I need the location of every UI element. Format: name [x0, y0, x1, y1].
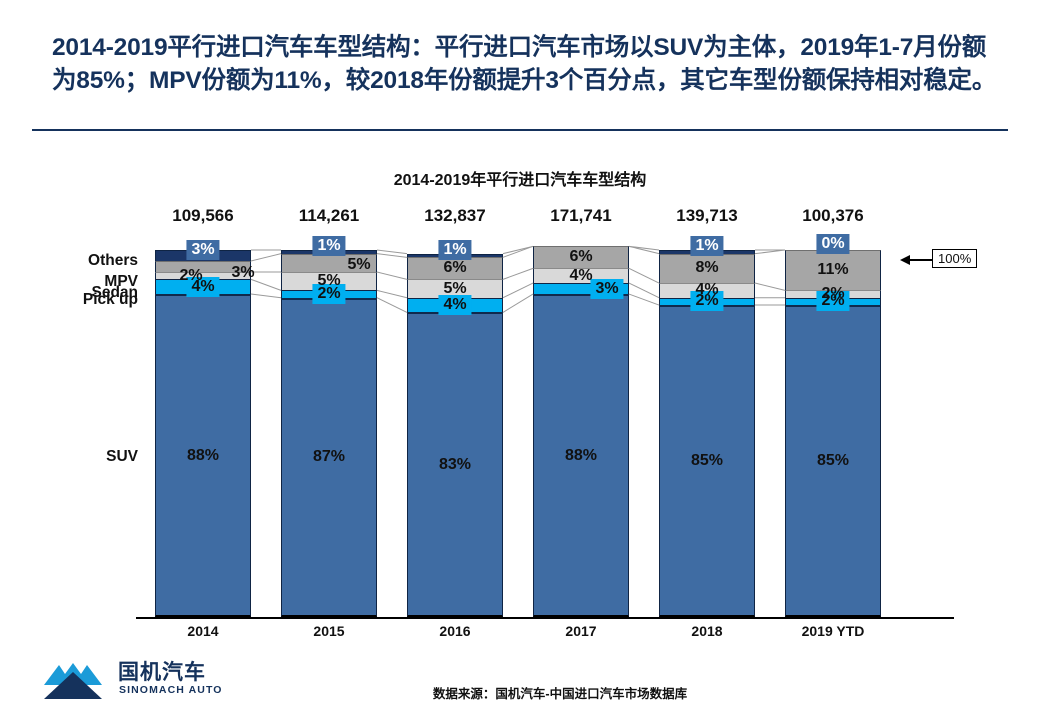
source-note: 数据来源：国机汽车-中国进口汽车市场数据库 [300, 683, 820, 702]
sinomach-logo: 国机汽车 SINOMACH AUTO [40, 655, 240, 705]
segment-value-label: 11% [812, 260, 853, 280]
segment-value-label: 5% [312, 271, 345, 291]
category-label-pick-up: Pick up [28, 291, 138, 309]
logo-text-cn: 国机汽车 [118, 656, 206, 686]
category-label-suv: SUV [28, 448, 138, 466]
bar-total-label: 109,566 [138, 206, 268, 226]
segment-value-label: 85% [686, 451, 728, 471]
callout-arrow-icon [900, 252, 934, 268]
stacked-bar-chart: 109,566114,261132,837171,741139,713100,3… [0, 0, 1040, 720]
segment-value-label: 1% [438, 240, 471, 260]
bar-column[interactable] [155, 250, 251, 617]
bar-column[interactable] [281, 250, 377, 617]
segment-value-label: 8% [690, 258, 723, 278]
category-label-others: Others [28, 252, 138, 270]
segment-value-label: 4% [690, 280, 723, 300]
x-axis-tick-label: 2018 [642, 623, 772, 639]
mountain-logo-icon [40, 655, 106, 701]
segment-value-label: 88% [182, 446, 224, 466]
segment-value-label: 87% [308, 447, 350, 467]
segment-value-label: 3% [186, 240, 219, 260]
bar-totals-row: 109,566114,261132,837171,741139,713100,3… [0, 206, 1040, 230]
bar-total-label: 100,376 [768, 206, 898, 226]
segment-value-label: 5% [342, 255, 375, 275]
bar-column[interactable] [533, 250, 629, 617]
segment-value-label: 83% [434, 455, 476, 475]
x-axis-line [136, 617, 954, 619]
x-axis-tick-label: 2015 [264, 623, 394, 639]
logo-text-en: SINOMACH AUTO [119, 684, 223, 696]
x-axis-tick-label: 2019 YTD [768, 623, 898, 639]
segment-value-label: 6% [438, 258, 471, 278]
x-axis-tick-label: 2014 [138, 623, 268, 639]
segment-value-label: 0% [816, 234, 849, 254]
x-axis-tick-label: 2016 [390, 623, 520, 639]
segment-value-label: 6% [564, 247, 597, 267]
segment-value-label: 4% [564, 266, 597, 286]
segment-value-label: 5% [438, 279, 471, 299]
segment-value-label: 2% [816, 284, 849, 304]
x-axis-tick-label: 2017 [516, 623, 646, 639]
segment-value-label: 1% [690, 236, 723, 256]
segment-value-label: 85% [812, 451, 854, 471]
callout-100-percent: 100% [932, 249, 977, 268]
segment-value-label: 88% [560, 446, 602, 466]
segment-value-label: 2% [174, 266, 207, 286]
slide-root: 2014-2019平行进口汽车车型结构：平行进口汽车市场以SUV为主体，2019… [0, 0, 1040, 720]
bar-total-label: 171,741 [516, 206, 646, 226]
segment-value-label: 1% [312, 236, 345, 256]
bar-total-label: 139,713 [642, 206, 772, 226]
segment-value-label: 3% [226, 263, 259, 283]
bar-total-label: 114,261 [264, 206, 394, 226]
bar-total-label: 132,837 [390, 206, 520, 226]
